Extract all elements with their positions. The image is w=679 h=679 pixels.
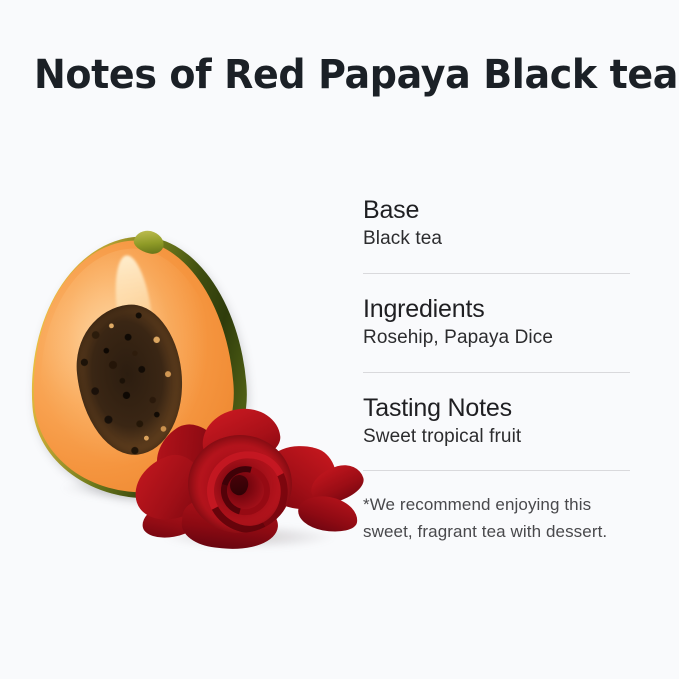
detail-value-ingredients: Rosehip, Papaya Dice bbox=[363, 326, 631, 350]
detail-heading-base: Base bbox=[363, 196, 631, 224]
rose-illustration bbox=[132, 405, 362, 565]
recommendation-footnote: *We recommend enjoying this sweet, fragr… bbox=[363, 492, 625, 545]
section-divider-2 bbox=[363, 372, 630, 373]
detail-heading-tasting-notes: Tasting Notes bbox=[363, 394, 631, 422]
section-divider-1 bbox=[363, 273, 630, 274]
detail-section-tasting-notes: Tasting Notes Sweet tropical fruit bbox=[363, 394, 631, 449]
detail-section-base: Base Black tea bbox=[363, 196, 631, 251]
detail-value-tasting-notes: Sweet tropical fruit bbox=[363, 425, 631, 449]
tea-details-list: Base Black tea Ingredients Rosehip, Papa… bbox=[363, 196, 631, 545]
detail-value-base: Black tea bbox=[363, 227, 631, 251]
detail-section-ingredients: Ingredients Rosehip, Papaya Dice bbox=[363, 295, 631, 350]
product-notes-card: Notes of Red Papaya Black tea bbox=[0, 0, 679, 679]
section-divider-3 bbox=[363, 470, 630, 471]
page-title: Notes of Red Papaya Black tea bbox=[34, 52, 623, 98]
detail-heading-ingredients: Ingredients bbox=[363, 295, 631, 323]
product-hero-image bbox=[20, 225, 360, 575]
